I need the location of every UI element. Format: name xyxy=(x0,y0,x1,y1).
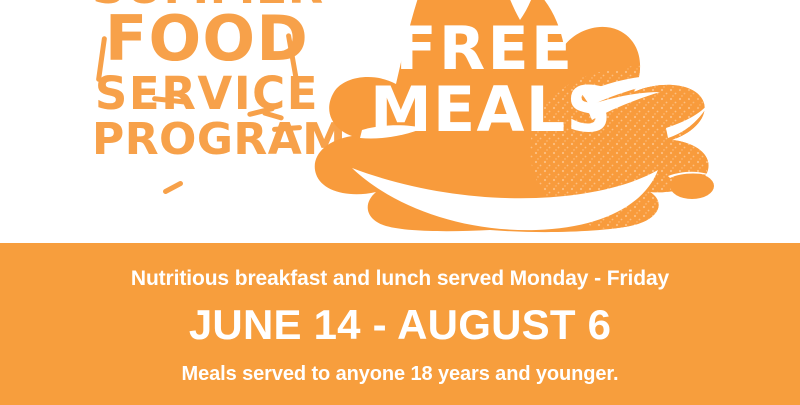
decorative-stroke-icon xyxy=(162,180,184,195)
banner-subtitle-bottom: Meals served to anyone 18 years and youn… xyxy=(0,349,800,386)
summer-food-service-flyer: SUMMER FOOD SERVICE PROGRAM xyxy=(0,0,800,405)
headline-block: SUMMER FOOD SERVICE PROGRAM xyxy=(92,0,322,160)
flyer-artwork-area: SUMMER FOOD SERVICE PROGRAM xyxy=(0,0,800,245)
info-banner: Nutritious breakfast and lunch served Mo… xyxy=(0,243,800,405)
paint-splash-blob-icon xyxy=(300,0,770,245)
banner-date-range: JUNE 14 - AUGUST 6 xyxy=(0,291,800,349)
banner-subtitle-top: Nutritious breakfast and lunch served Mo… xyxy=(0,243,800,291)
headline-line-service: SERVICE xyxy=(92,73,322,114)
